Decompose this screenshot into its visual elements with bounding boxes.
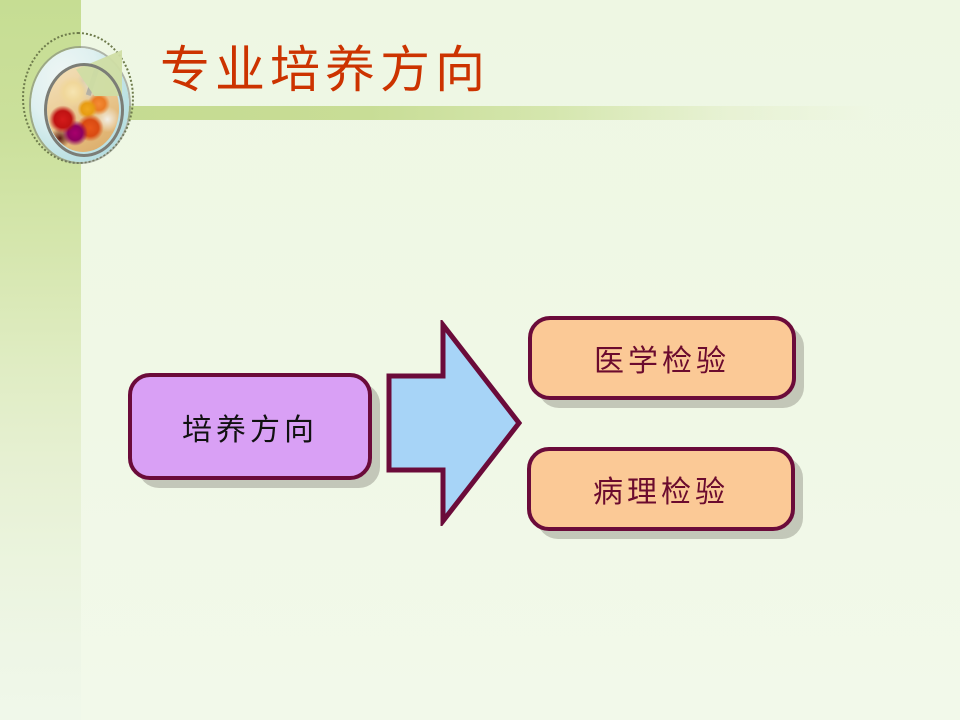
logo-badge [14,22,142,174]
diagram-node-source-label: 培养方向 [182,405,318,449]
flow-arrow [386,320,522,526]
diagram-node-source[interactable]: 培养方向 [128,373,372,480]
slide: 专业培养方向 培养方向 医学检验 病理检验 [0,0,960,720]
title-divider-rule [116,106,960,120]
diagram-node-branch-2-label: 病理检验 [593,467,729,511]
diagram-node-branch-1-label: 医学检验 [594,336,730,380]
right-block-arrow-icon [386,320,522,526]
diagram-node-branch-1[interactable]: 医学检验 [528,316,796,400]
page-title: 专业培养方向 [160,38,490,102]
diagram-node-branch-2[interactable]: 病理检验 [527,447,795,531]
logo-grey-ring [44,63,124,157]
